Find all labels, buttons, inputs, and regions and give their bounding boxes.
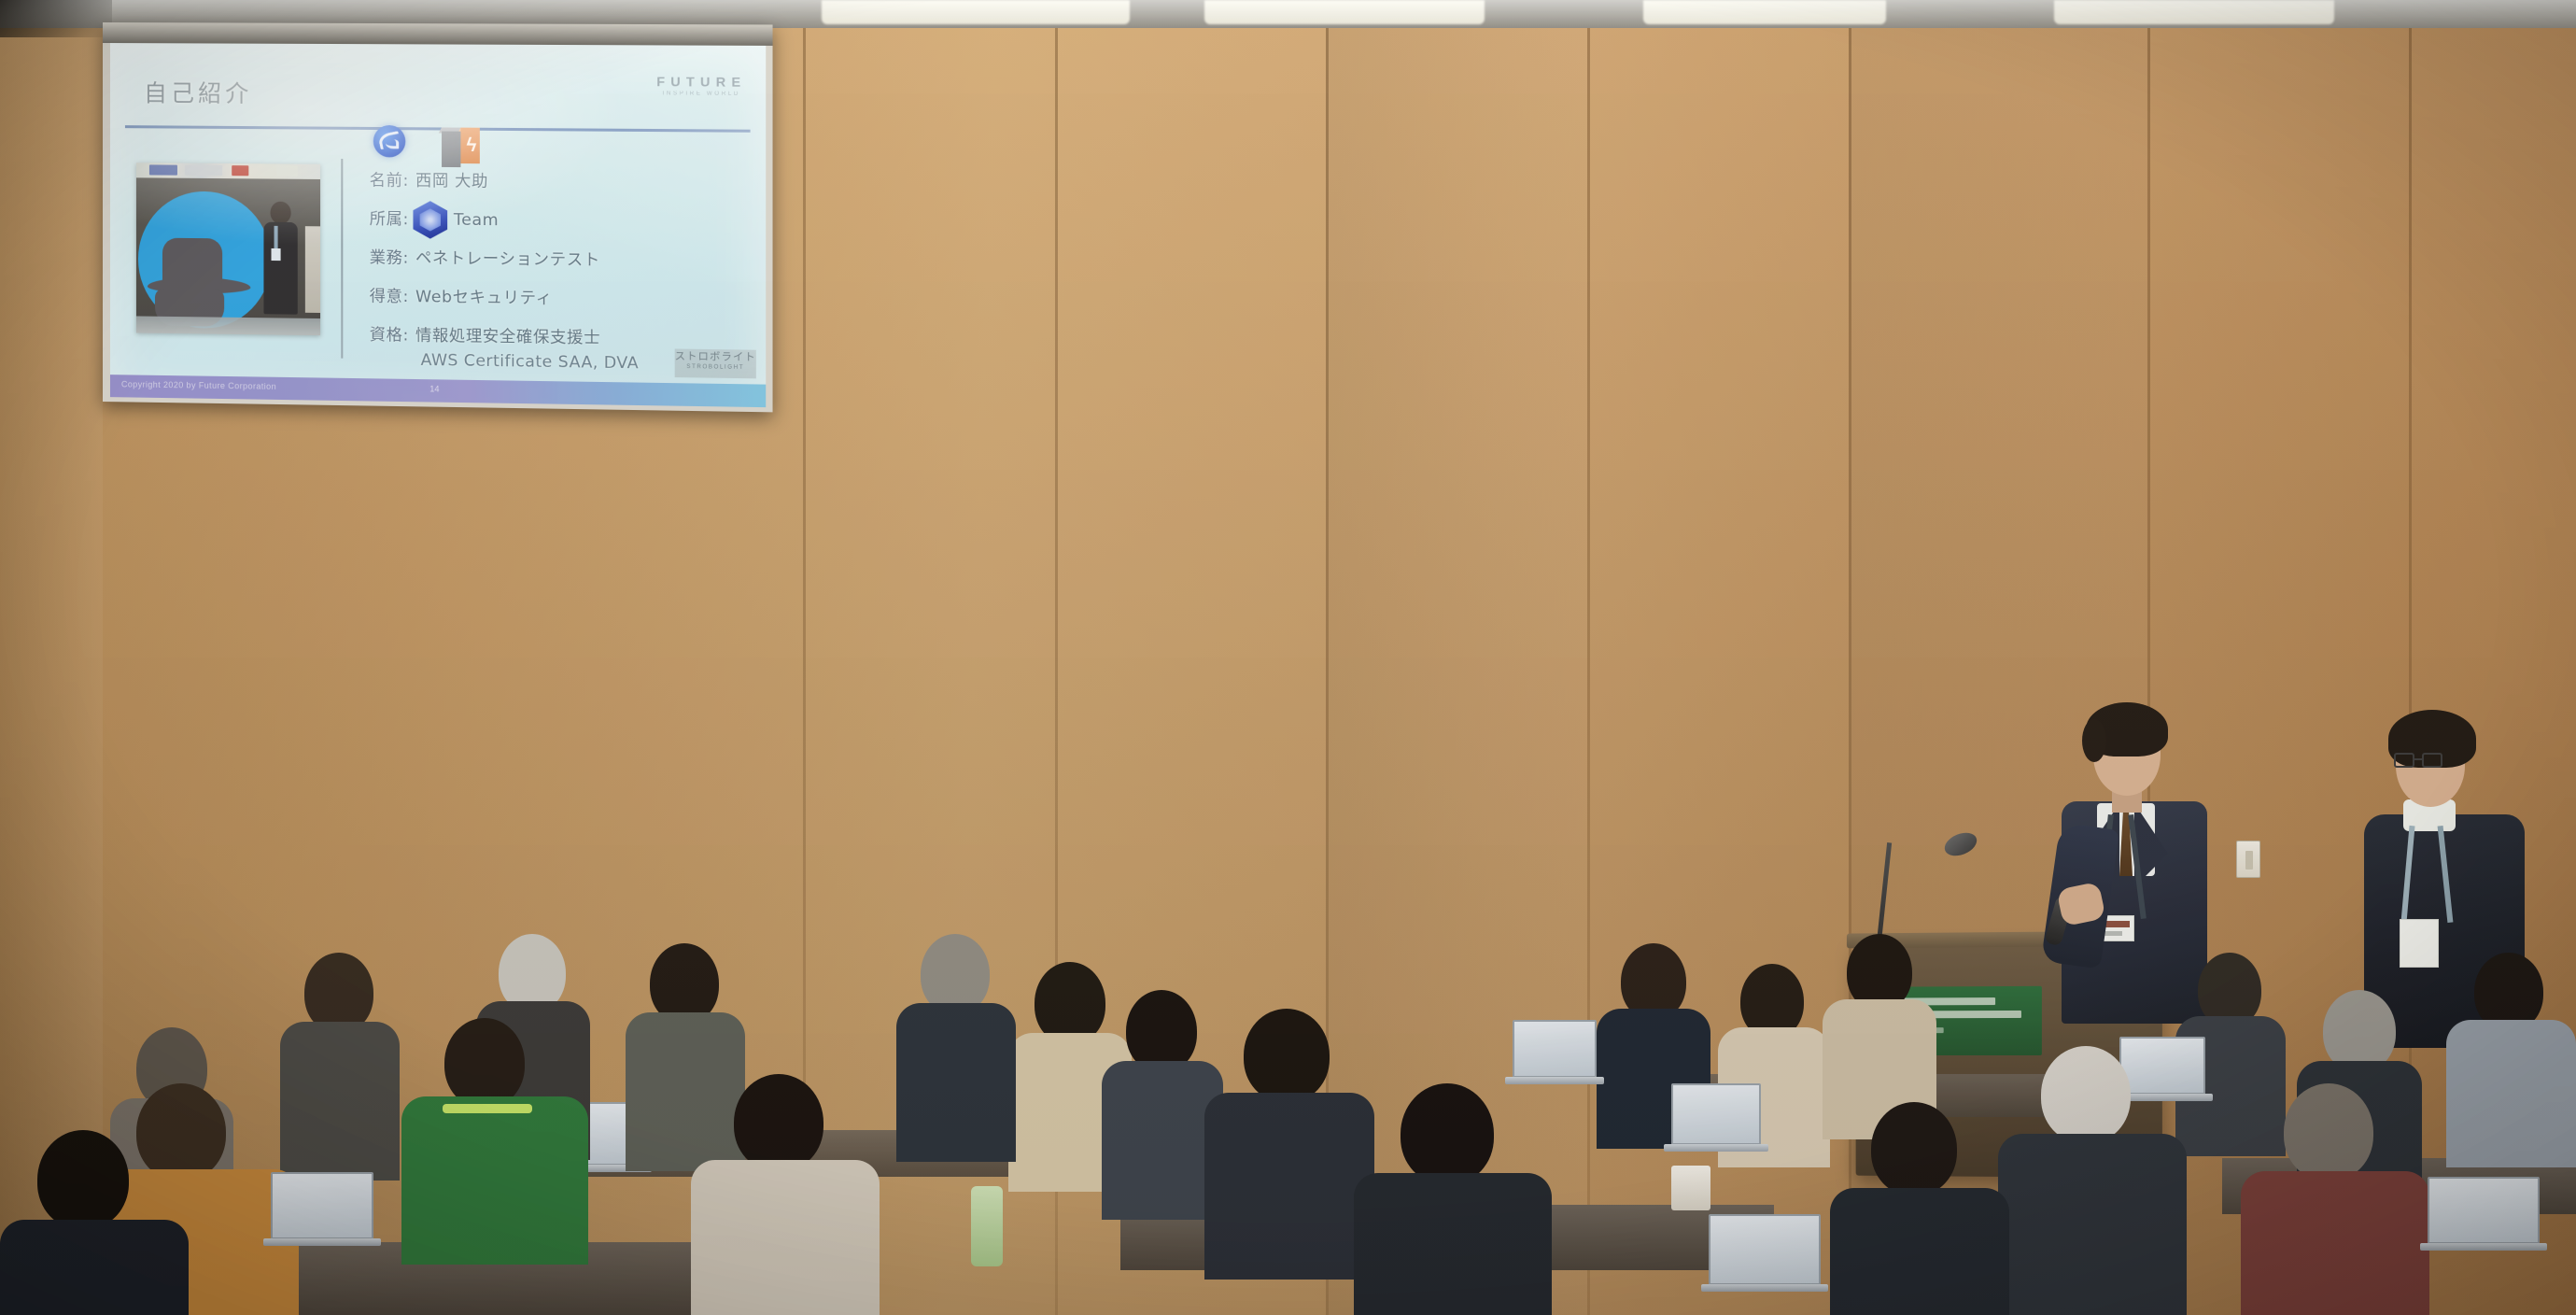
cube-bolt-glyph: ϟ xyxy=(467,135,476,156)
ceiling-light xyxy=(2054,0,2334,24)
screen-roller-bar xyxy=(103,22,773,46)
attendee-name-badge xyxy=(2400,919,2439,968)
attendee-torso xyxy=(896,1003,1016,1162)
kali-linux-icon xyxy=(373,125,406,158)
glasses-bridge xyxy=(2414,758,2422,760)
attendee-torso xyxy=(2241,1171,2429,1315)
attendee-head xyxy=(2284,1083,2373,1181)
attendee-torso xyxy=(1998,1134,2187,1315)
conference-photo: 自己紹介 FUTURE INSPIRE WORLD xyxy=(0,0,2576,1315)
attendee-head xyxy=(734,1074,823,1171)
info-label: 名前: xyxy=(370,166,409,191)
laptop[interactable] xyxy=(2428,1177,2540,1244)
aws-certification-badge-icon xyxy=(413,201,447,239)
laptop-base xyxy=(1701,1284,1828,1292)
projector-screen: 自己紹介 FUTURE INSPIRE WORLD xyxy=(103,22,773,412)
attendee-head xyxy=(1401,1083,1494,1184)
paper-cup xyxy=(1671,1166,1710,1210)
laptop-screen xyxy=(1709,1214,1821,1285)
photo-tab xyxy=(232,165,248,176)
presenter-hair-side xyxy=(2082,719,2106,762)
attendee-torso xyxy=(1354,1173,1552,1315)
jacket-trim xyxy=(443,1104,532,1113)
info-label: 所属: xyxy=(370,205,409,230)
future-brand-logo: FUTURE INSPIRE WORLD xyxy=(656,74,746,97)
info-row: 業務: ペネトレーションテスト xyxy=(370,244,744,272)
presenter-photo xyxy=(136,163,320,335)
laptop-base xyxy=(263,1238,381,1246)
attendee-torso xyxy=(2446,1020,2576,1167)
ceiling-light xyxy=(1204,0,1485,24)
audience-member xyxy=(1102,990,1221,1205)
footer-page-number: 14 xyxy=(429,384,439,393)
audience-member xyxy=(1830,1102,2007,1315)
info-label: 業務: xyxy=(370,244,409,268)
light-switch-toggle[interactable] xyxy=(2245,851,2253,870)
info-row: 名前: 西岡 大助 xyxy=(370,166,744,193)
audience-member xyxy=(896,934,1014,1149)
slide-corner-logo: ストロボライト STROBOLIGHT xyxy=(675,348,756,378)
glasses-icon xyxy=(2394,753,2444,768)
attendee-head xyxy=(444,1018,525,1108)
title-divider-rule xyxy=(125,125,751,133)
photo-speaker-lanyard xyxy=(274,226,278,250)
burp-suite-cube-icon: ϟ xyxy=(442,127,480,167)
photo-wall-panel xyxy=(305,226,320,313)
audience-member xyxy=(1204,1009,1372,1270)
attendee-torso xyxy=(0,1220,189,1315)
presentation-slide: 自己紹介 FUTURE INSPIRE WORLD xyxy=(110,43,766,407)
attendee-head xyxy=(1871,1102,1957,1195)
attendee-head xyxy=(2041,1046,2131,1143)
photo-speaker-body xyxy=(263,222,297,315)
info-value: Webセキュリティ xyxy=(415,283,553,308)
brand-tagline: INSPIRE WORLD xyxy=(656,91,746,97)
attendee-torso xyxy=(691,1160,880,1315)
laptop[interactable] xyxy=(1671,1083,1761,1145)
profile-info-list: 名前: 西岡 大助 所属: Red Team 業務: ペネトレーションテスト 得… xyxy=(370,166,744,375)
info-label: 得意: xyxy=(370,282,409,306)
photo-tab xyxy=(277,166,298,177)
attendee-head xyxy=(37,1130,129,1229)
audience-member xyxy=(2241,1083,2428,1315)
audience-member xyxy=(1354,1083,1550,1315)
laptop[interactable] xyxy=(1513,1020,1597,1078)
attendee-torso xyxy=(1204,1093,1374,1280)
attendee-torso xyxy=(401,1096,588,1265)
audience-member xyxy=(0,1130,187,1315)
wall-seam xyxy=(1587,0,1590,1315)
info-label: 資格: xyxy=(370,321,409,346)
laptop-screen xyxy=(2428,1177,2540,1244)
photo-scene xyxy=(136,177,320,335)
audience-member xyxy=(691,1074,878,1315)
footer-copyright: Copyright 2020 by Future Corporation xyxy=(121,379,276,391)
glasses-lens-left xyxy=(2394,753,2414,768)
attendee-head xyxy=(2323,990,2396,1072)
info-row: 資格: 情報処理安全確保支援士 xyxy=(370,321,744,350)
light-switch-plate[interactable] xyxy=(2236,841,2260,878)
slide-title: 自己紹介 xyxy=(144,75,252,109)
hat-crown xyxy=(162,238,222,284)
audience-member xyxy=(401,1018,588,1261)
kali-tail xyxy=(386,139,399,148)
laptop-base xyxy=(1664,1144,1768,1152)
info-value: 情報処理安全確保支援士 xyxy=(415,321,600,347)
wall-corner-shadow xyxy=(0,0,112,37)
photo-tab xyxy=(149,164,177,175)
photo-tab xyxy=(185,165,222,176)
audience-member xyxy=(1998,1046,2185,1315)
ceiling-light xyxy=(1643,0,1886,24)
laptop-screen xyxy=(271,1172,373,1239)
attendee-torso xyxy=(1830,1188,2009,1315)
vertical-divider xyxy=(341,159,343,359)
photo-speaker-head xyxy=(270,202,290,224)
corner-logo-line2: STROBOLIGHT xyxy=(675,364,756,371)
photo-speaker-badge xyxy=(272,248,281,261)
laptop[interactable] xyxy=(1709,1214,1821,1285)
hat-silhouette-icon xyxy=(148,222,250,321)
laptop-screen xyxy=(1671,1083,1761,1145)
photo-stage-floor xyxy=(136,316,320,335)
laptop[interactable] xyxy=(271,1172,373,1239)
audience-member xyxy=(2446,953,2576,1158)
cube-left-face xyxy=(442,132,460,168)
audience-member xyxy=(1823,934,1935,1130)
info-value: 西岡 大助 xyxy=(415,167,488,191)
photo-browser-strip xyxy=(136,163,320,179)
attendee-head xyxy=(1244,1009,1330,1102)
ceiling-light xyxy=(822,0,1130,24)
slide-footer-bar: Copyright 2020 by Future Corporation 14 xyxy=(110,375,766,407)
laptop-base xyxy=(2420,1243,2547,1251)
corner-logo-line1: ストロボライト xyxy=(675,348,756,365)
info-value: ペネトレーションテスト xyxy=(415,245,600,271)
attendee-head xyxy=(1035,962,1105,1044)
brand-name: FUTURE xyxy=(656,74,746,90)
info-row: 得意: Webセキュリティ xyxy=(370,282,744,310)
laptop-screen xyxy=(1513,1020,1597,1078)
attendee-head xyxy=(1126,990,1197,1072)
green-bottle xyxy=(971,1186,1003,1266)
glasses-lens-right xyxy=(2422,753,2442,768)
photo-speaker-figure xyxy=(261,202,299,315)
